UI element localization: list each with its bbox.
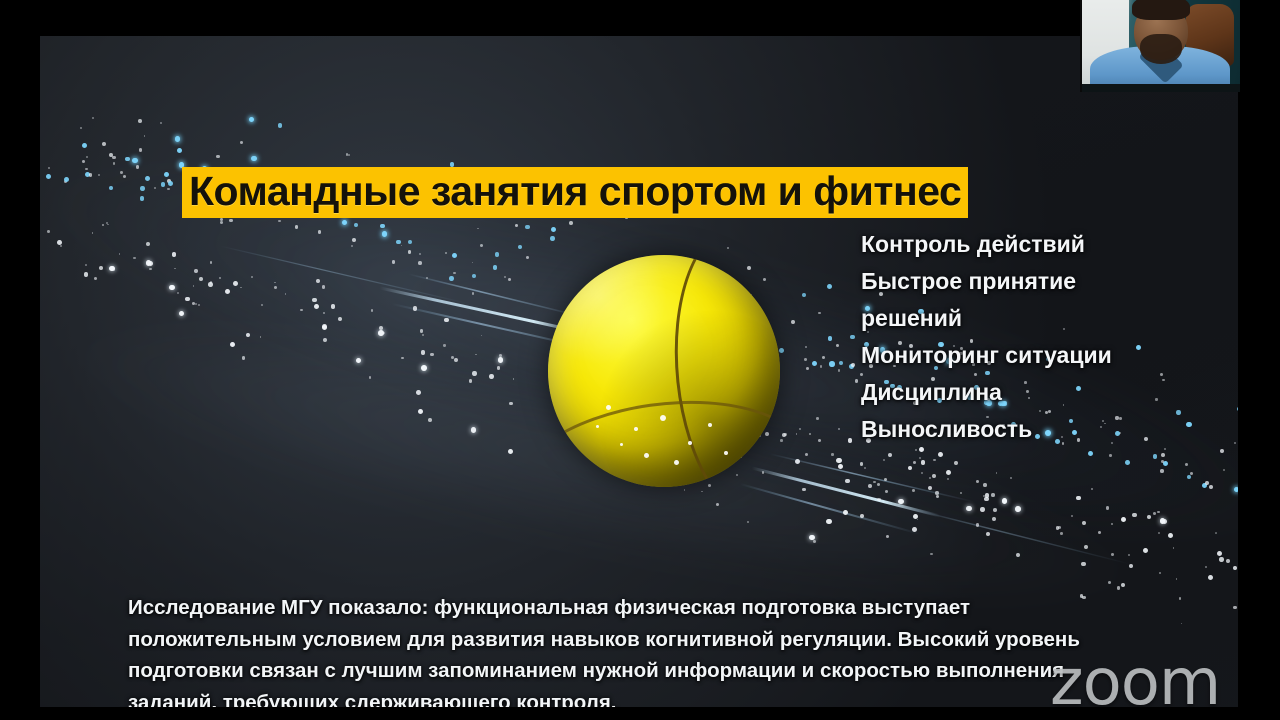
bullet-item: Контроль действий bbox=[861, 226, 1191, 263]
bullet-item: решений bbox=[861, 300, 1191, 337]
paragraph-line: заданий, требующих сдерживающего контрол… bbox=[128, 687, 1138, 708]
slide-body-paragraph: Исследование МГУ показало: функциональна… bbox=[128, 592, 1138, 707]
presentation-slide: Командные занятия спортом и фитнес Контр… bbox=[40, 36, 1238, 707]
slide-title-banner: Командные занятия спортом и фитнес bbox=[182, 167, 968, 218]
paragraph-line: положительным условием для развития навы… bbox=[128, 624, 1138, 656]
presenter-hair bbox=[1132, 0, 1190, 20]
slide-bullet-list: Контроль действий Быстрое принятие решен… bbox=[861, 226, 1191, 448]
bullet-item: Быстрое принятие bbox=[861, 263, 1191, 300]
tennis-ball-image bbox=[548, 255, 780, 487]
bullet-item: Мониторинг ситуации bbox=[861, 337, 1191, 374]
slide-title: Командные занятия спортом и фитнес bbox=[189, 168, 961, 214]
zoom-screenshare-stage: Командные занятия спортом и фитнес Контр… bbox=[0, 0, 1280, 720]
zoom-watermark: zoom bbox=[1050, 651, 1220, 707]
bullet-item: Выносливость bbox=[861, 411, 1191, 448]
presenter-video-thumbnail[interactable] bbox=[1080, 0, 1240, 92]
presenter-beard bbox=[1140, 34, 1182, 64]
paragraph-line: подготовки связан с лучшим запоминанием … bbox=[128, 655, 1138, 687]
desk-edge bbox=[1082, 84, 1240, 92]
paragraph-line: Исследование МГУ показало: функциональна… bbox=[128, 592, 1138, 624]
bullet-item: Дисциплина bbox=[861, 374, 1191, 411]
